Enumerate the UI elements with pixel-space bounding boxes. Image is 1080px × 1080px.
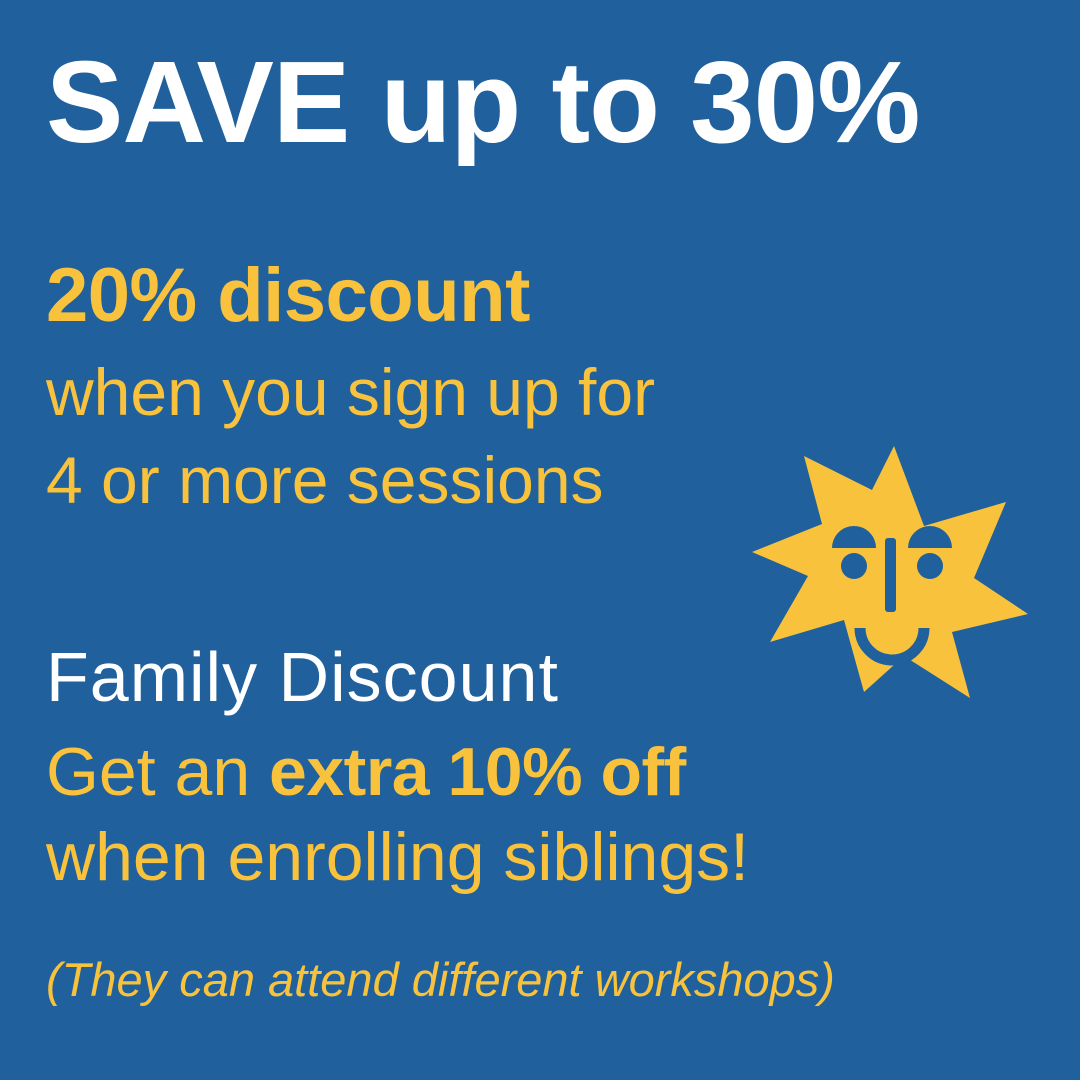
smiling-sun-icon <box>752 442 1028 698</box>
sessions-condition-line-1: when you sign up for <box>46 349 806 437</box>
left-eye <box>841 553 867 579</box>
sessions-condition-line-2: 4 or more sessions <box>46 437 806 525</box>
promo-poster: SAVE up to 30% 20% discount when you sig… <box>0 0 1080 1080</box>
right-eye <box>917 553 943 579</box>
nose <box>885 538 896 612</box>
family-discount-amount-line: Get an extra 10% off <box>46 730 946 815</box>
offer-block-sessions: 20% discount when you sign up for 4 or m… <box>46 256 806 525</box>
family-discount-condition: when enrolling siblings! <box>46 815 946 900</box>
sessions-discount-conditions: when you sign up for 4 or more sessions <box>46 349 806 525</box>
family-discount-prefix: Get an <box>46 734 269 810</box>
family-discount-emphasis: extra 10% off <box>269 734 686 810</box>
sessions-discount-amount: 20% discount <box>46 256 806 335</box>
page-title: SAVE up to 30% <box>46 44 1046 160</box>
family-discount-footnote: (They can attend different workshops) <box>46 952 835 1008</box>
